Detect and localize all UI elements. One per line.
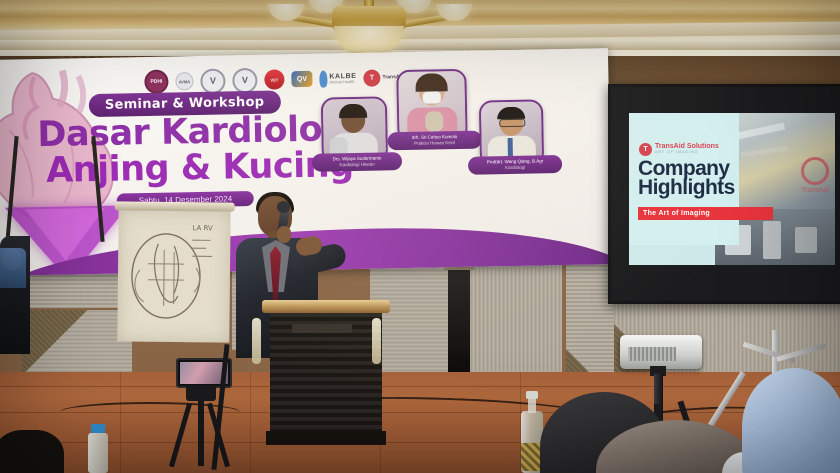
slide-watermark: TransAid — [801, 157, 829, 194]
pdhi-logo: PDHI — [144, 70, 168, 94]
presentation-slide: T TransAid Solutions ART OF IMAGING Comp… — [629, 113, 835, 265]
vet-assoc-logo: AVMA — [175, 72, 193, 90]
lectern — [266, 300, 386, 450]
flipchart: LA RV — [117, 201, 230, 344]
vet-shield-logo-1: V — [200, 68, 225, 93]
transaid-slide-icon: T — [639, 143, 652, 156]
speaker-badge-1: Drs. Wijaya Sudarmanto Kardiologi Hewan — [312, 152, 402, 172]
kalbe-logo: KALBE Animal Health — [319, 69, 356, 87]
tripod-leg-center — [198, 400, 204, 466]
svg-text:LA RV: LA RV — [192, 224, 213, 232]
kalbe-sublabel: Animal Health — [329, 79, 356, 84]
lectern-light-right — [372, 318, 381, 364]
mineral-water-bottle — [88, 420, 108, 473]
lectern-nameplate — [292, 324, 352, 333]
lectern-base — [266, 431, 386, 445]
audience-head-left-foreground — [0, 430, 64, 473]
acoustic-panel-5 — [466, 252, 562, 374]
red-circle-logo: VET — [264, 69, 284, 89]
lectern-light-left — [252, 318, 261, 364]
speaker-badge-3: Prof(dr). Wang Qiang, B.Agr Kardiologi — [468, 155, 562, 175]
speaker-badge-2: drh. Sri Cahyo Kumolo Praktisi Hewan Kec… — [387, 131, 481, 151]
flipchart-paper: LA RV — [117, 209, 230, 342]
microphone-head — [277, 201, 290, 213]
doorway-opening — [448, 268, 470, 374]
acoustic-panel-2 — [22, 310, 132, 380]
photo-scene: PDHI AVMA V V VET QV KALBE Animal Heal — [0, 0, 840, 473]
qv-logo: QV — [291, 71, 312, 87]
slide-watermark-label: TransAid — [801, 187, 829, 194]
tripod-leg-left — [169, 403, 192, 468]
slide-tagline: The Art of Imaging — [638, 207, 773, 220]
vet-shield-logo-2: V — [232, 67, 257, 92]
presenter-mic-hand — [277, 226, 291, 243]
tripod-head — [186, 385, 216, 401]
slide-brand-lockup: T TransAid Solutions ART OF IMAGING — [639, 141, 731, 157]
speaker-3-role: Kardiologi — [472, 164, 558, 172]
flipchart-drawing: LA RV — [117, 209, 230, 342]
slide-heading-line2: Highlights — [638, 176, 735, 200]
audience-left-clothing — [0, 248, 26, 288]
slide-brand-sub: ART OF IMAGING — [655, 151, 719, 155]
projector-vent — [628, 347, 676, 361]
projection-screen: T TransAid Solutions ART OF IMAGING Comp… — [608, 84, 840, 304]
banner-triangle-accent-2 — [25, 208, 106, 262]
phone-tripod — [164, 358, 238, 468]
flipchart-clamp — [115, 201, 235, 211]
lectern-top — [262, 300, 390, 313]
speaker-1-role: Kardiologi Hewan — [316, 161, 398, 169]
speaker-2-role: Praktisi Hewan Kecil — [392, 140, 478, 148]
